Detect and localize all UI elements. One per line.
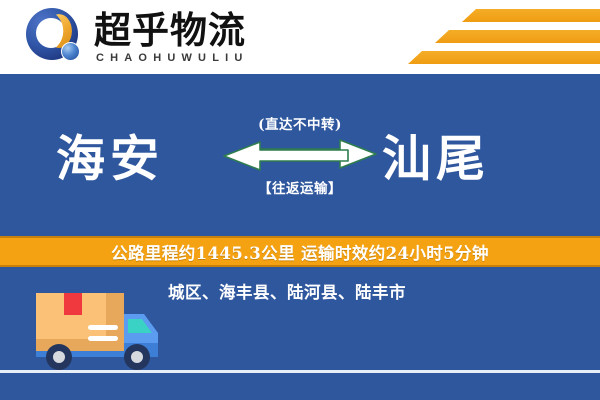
distance-and-duration-text: 公路里程约1445.3公里 运输时效约24小时5分钟	[111, 240, 489, 264]
road-line-decoration	[0, 370, 600, 373]
speed-stripes-decoration	[310, 9, 600, 65]
origin-city-label: 海安	[56, 120, 164, 191]
brand-name-cn: 超乎物流	[94, 10, 249, 50]
logistics-route-banner: 超乎物流 CHAOHUWULIU 海安 (直达不中转) 【往返运输】	[0, 0, 600, 400]
bidirectional-arrow-icon	[222, 139, 378, 171]
route-middle-block: (直达不中转) 【往返运输】	[218, 74, 382, 236]
route-info-bar: 公路里程约1445.3公里 运输时效约24小时5分钟	[0, 236, 600, 267]
brand-text-block: 超乎物流 CHAOHUWULIU	[94, 10, 249, 65]
brand-name-en: CHAOHUWULIU	[94, 51, 249, 65]
page-header: 超乎物流 CHAOHUWULIU	[0, 0, 600, 74]
speed-stripe-3	[408, 51, 600, 64]
destination-city-label: 汕尾	[382, 120, 490, 191]
round-trip-note: 【往返运输】	[258, 177, 342, 197]
speed-stripe-2	[435, 30, 600, 43]
speed-stripe-1	[462, 9, 600, 22]
route-banner: 海安 (直达不中转) 【往返运输】 汕尾	[0, 74, 600, 236]
brand-logo[interactable]: 超乎物流 CHAOHUWULIU	[24, 6, 249, 68]
direct-route-note: (直达不中转)	[258, 113, 342, 133]
chaohu-circle-logo-icon	[24, 6, 86, 68]
coverage-area-text: 城区、海丰县、陆河县、陆丰市	[168, 279, 406, 303]
logo-small-dot-icon	[61, 42, 80, 61]
delivery-truck-icon	[26, 281, 172, 373]
coverage-section: 城区、海丰县、陆河县、陆丰市	[0, 267, 600, 400]
